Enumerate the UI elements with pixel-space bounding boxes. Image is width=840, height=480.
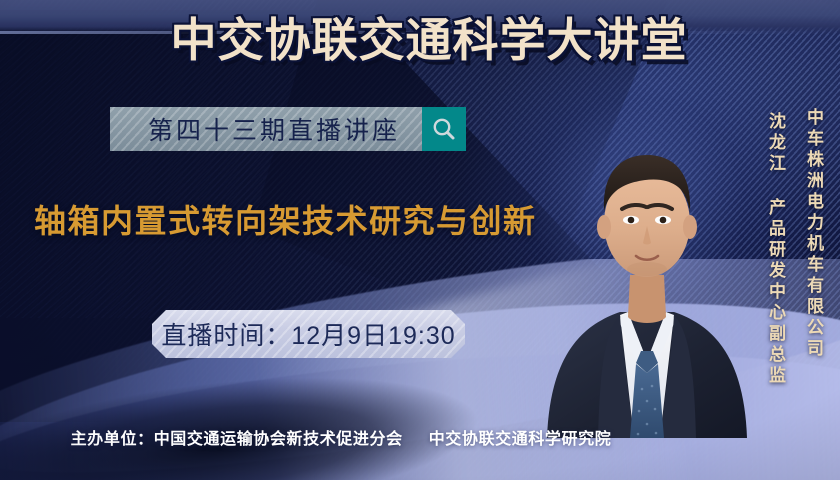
footer-organizer-1: 中国交通运输协会新技术促进分会: [154, 431, 403, 448]
footer-organizers: 主办单位：中国交通运输协会新技术促进分会中交协联交通科学研究院: [0, 425, 840, 449]
speaker-company: 中车株洲电力机车有限公司: [801, 108, 826, 360]
page-title: 中交协联交通科学大讲堂: [0, 14, 840, 67]
session-banner: 第四十三期直播讲座: [110, 107, 422, 151]
search-icon-box[interactable]: [422, 107, 466, 151]
speaker-name-role: 沈龙江 产品研发中心副总监: [763, 112, 788, 387]
live-lecture-poster: 中交协联交通科学大讲堂 第四十三期直播讲座 轴箱内置式转向架技术研究与创新 直播…: [0, 0, 840, 480]
footer-organizer-2: 中交协联交通科学研究院: [429, 431, 612, 448]
speaker-portrait: [542, 93, 752, 438]
session-label: 第四十三期直播讲座: [132, 111, 400, 147]
broadcast-time-label: 直播时间：12月9日19:30: [161, 316, 455, 352]
broadcast-time-pill: 直播时间：12月9日19:30: [152, 310, 465, 358]
footer-prefix: 主办单位：: [71, 431, 154, 448]
lecture-topic: 轴箱内置式转向架技术研究与创新: [34, 196, 537, 242]
search-icon: [431, 116, 457, 142]
